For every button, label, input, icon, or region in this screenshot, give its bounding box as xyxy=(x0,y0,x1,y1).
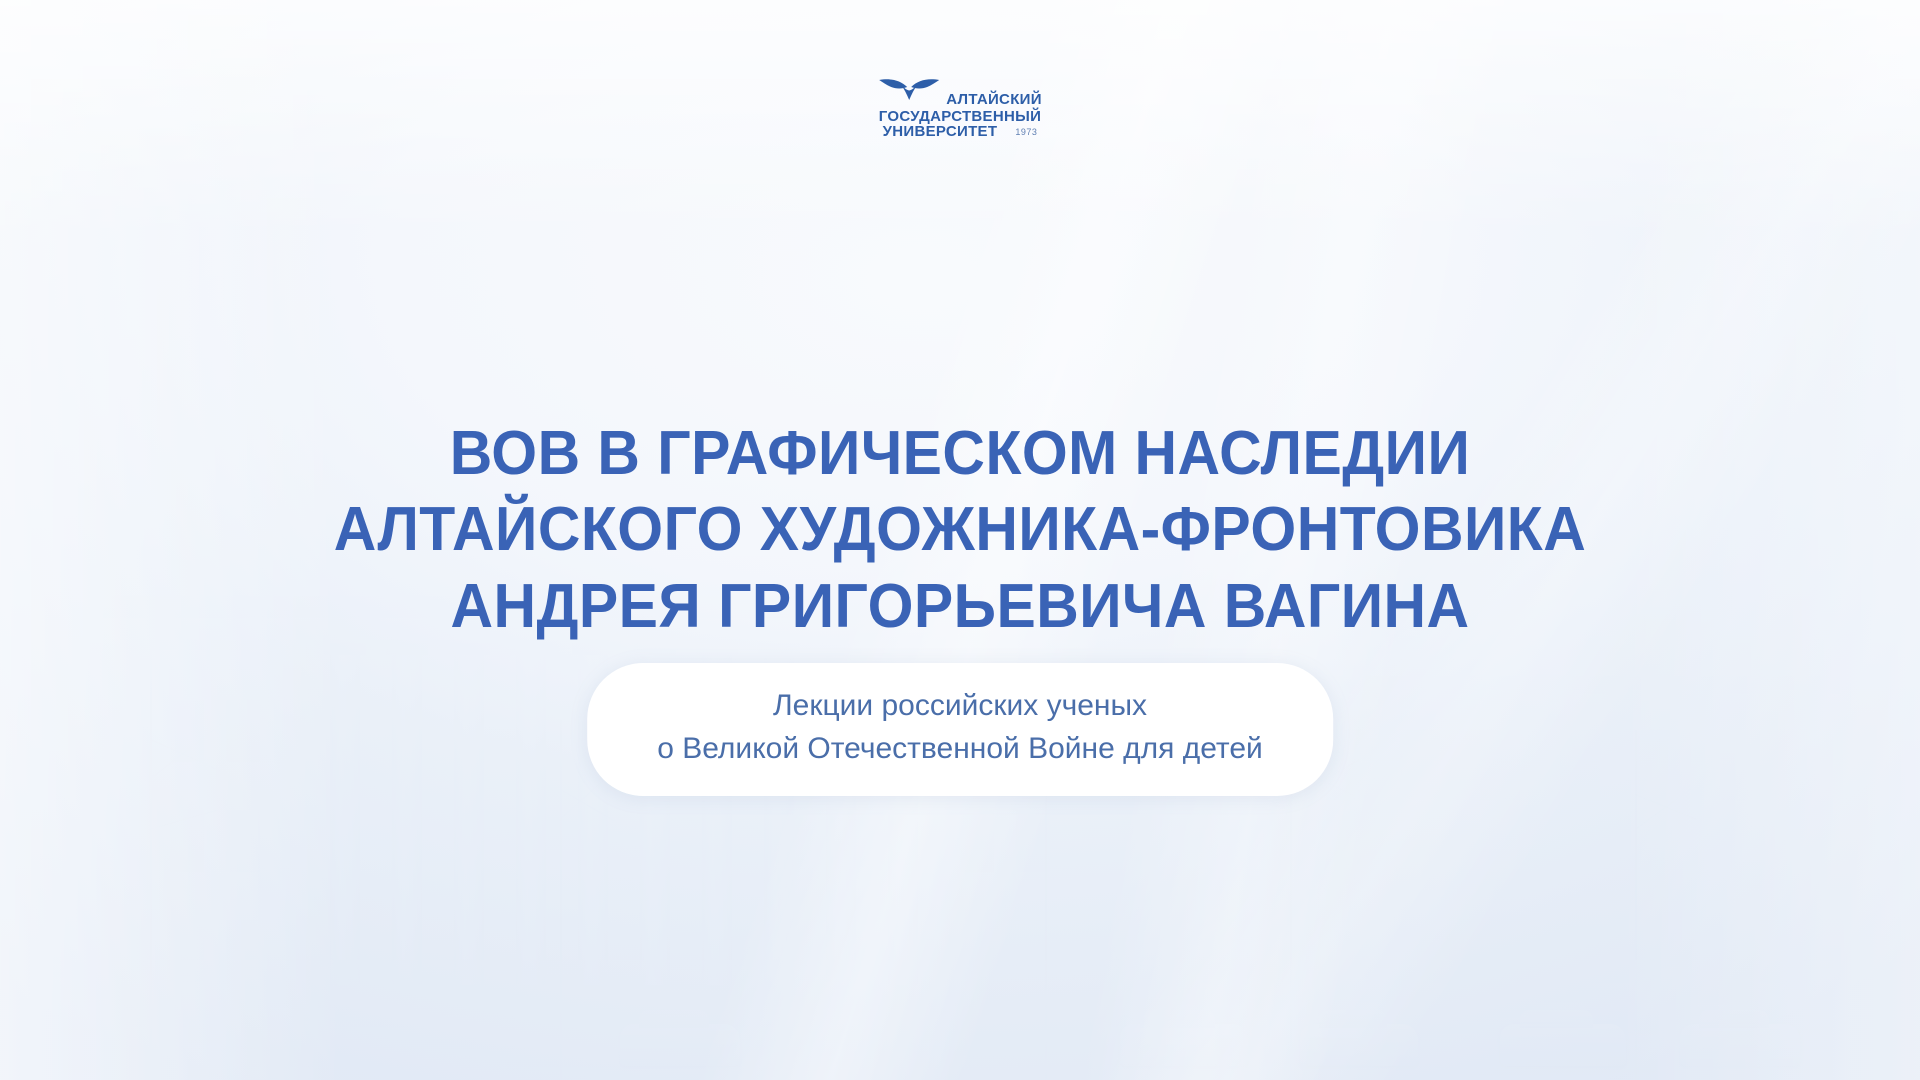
title-line-2: АЛТАЙСКОГО ХУДОЖНИКА-ФРОНТОВИКА xyxy=(48,492,1872,569)
title-line-1: ВОВ В ГРАФИЧЕСКОМ НАСЛЕДИИ xyxy=(48,416,1872,493)
logo-year: 1973 xyxy=(1015,128,1037,139)
slide-content: АЛТАЙСКИЙ ГОСУДАРСТВЕННЫЙ УНИВЕРСИТЕТ 19… xyxy=(0,0,1920,1080)
subtitle-line-2: о Великой Отечественной Войне для детей xyxy=(657,728,1263,771)
slide-title: ВОВ В ГРАФИЧЕСКОМ НАСЛЕДИИ АЛТАЙСКОГО ХУ… xyxy=(48,416,1872,647)
bird-wings-icon xyxy=(878,76,940,107)
subtitle-line-1: Лекции российских ученых xyxy=(657,685,1263,728)
university-logo: АЛТАЙСКИЙ ГОСУДАРСТВЕННЫЙ УНИВЕРСИТЕТ 19… xyxy=(878,76,1042,140)
title-line-3: АНДРЕЯ ГРИГОРЬЕВИЧА ВАГИНА xyxy=(48,569,1872,646)
subtitle-pill: Лекции российских ученых о Великой Отече… xyxy=(587,663,1333,796)
presentation-slide: АЛТАЙСКИЙ ГОСУДАРСТВЕННЫЙ УНИВЕРСИТЕТ 19… xyxy=(0,0,1920,1080)
logo-line-2: ГОСУДАРСТВЕННЫЙ xyxy=(879,109,1041,124)
logo-line-3: УНИВЕРСИТЕТ xyxy=(883,124,998,139)
logo-line-1: АЛТАЙСКИЙ xyxy=(946,91,1042,108)
